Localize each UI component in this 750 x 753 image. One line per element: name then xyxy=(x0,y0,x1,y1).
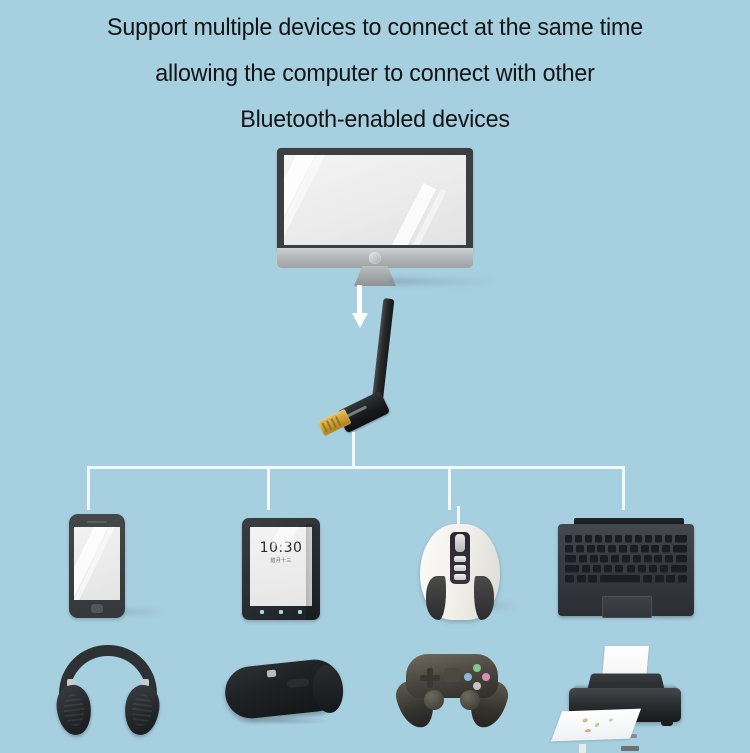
phone-screen xyxy=(74,527,120,600)
phone-speaker xyxy=(87,521,107,523)
monitor-shadow xyxy=(389,278,497,285)
mouse-dpi-button xyxy=(454,574,466,580)
keyboard xyxy=(558,518,694,618)
keyboard-row xyxy=(565,545,687,553)
mouse xyxy=(412,512,508,622)
keyboard-trackpad xyxy=(602,596,652,618)
controller-center-panel xyxy=(444,668,460,682)
printer-foot xyxy=(661,720,673,726)
monitor-bezel xyxy=(277,148,473,252)
tablet-body: 10:30 腊月十三 xyxy=(242,518,320,620)
phone-home-button xyxy=(91,604,103,613)
phone-shadow xyxy=(119,609,163,615)
bluetooth-speaker xyxy=(225,655,341,727)
keyboard-row xyxy=(565,535,687,543)
headline-line-3: Bluetooth-enabled devices xyxy=(11,97,739,143)
speaker-power-button xyxy=(267,670,277,678)
keyboard-base xyxy=(558,524,694,616)
printer-front-panel xyxy=(621,746,639,751)
page-title: Support multiple devices to connect at t… xyxy=(11,0,739,143)
printer xyxy=(563,646,687,740)
smartphone xyxy=(69,514,125,618)
keyboard-row xyxy=(565,565,687,573)
printed-mark xyxy=(608,718,613,721)
mouse-dpi-button xyxy=(454,565,466,571)
usb-bluetooth-adapter xyxy=(325,298,395,438)
controller-face-buttons xyxy=(464,664,490,690)
printed-mark xyxy=(594,723,600,727)
mouse-side-grip xyxy=(474,576,494,620)
tree-drop xyxy=(448,466,451,510)
headline-line-2: allowing the computer to connect with ot… xyxy=(11,51,739,97)
tree-bar xyxy=(87,466,625,469)
mouse-scroll-wheel xyxy=(455,534,465,552)
tree-drop xyxy=(267,466,270,510)
mouse-dpi-button xyxy=(454,556,466,562)
monitor-power-button xyxy=(369,252,381,264)
keyboard-keys xyxy=(565,535,687,583)
infographic-canvas: Support multiple devices to connect at t… xyxy=(0,0,750,750)
game-controller xyxy=(396,650,508,732)
headline-line-1: Support multiple devices to connect at t… xyxy=(11,0,739,51)
tree-drop xyxy=(622,466,625,510)
printer-output-paper xyxy=(551,709,641,742)
keyboard-row xyxy=(565,555,687,563)
headphones xyxy=(53,645,163,735)
desktop-monitor xyxy=(277,148,473,273)
dpad-icon xyxy=(420,668,440,688)
printed-mark xyxy=(584,729,591,732)
printer-status-light xyxy=(579,744,586,753)
analog-stick xyxy=(460,690,480,710)
tablet-screen: 10:30 腊月十三 xyxy=(250,527,312,606)
connector-tree xyxy=(0,432,750,514)
tablet-clock-date: 腊月十三 xyxy=(270,557,291,564)
tree-drop xyxy=(87,466,90,510)
analog-stick xyxy=(424,690,444,710)
mouse-side-grip xyxy=(426,576,446,620)
keyboard-row xyxy=(565,575,687,583)
tablet-edge-shadow xyxy=(306,524,322,620)
printed-mark xyxy=(582,718,589,722)
monitor-screen xyxy=(284,155,466,245)
tree-stem xyxy=(352,432,355,468)
tablet: 10:30 腊月十三 xyxy=(242,518,320,620)
phone-body xyxy=(69,514,125,618)
tablet-indicator-dots xyxy=(260,610,302,614)
